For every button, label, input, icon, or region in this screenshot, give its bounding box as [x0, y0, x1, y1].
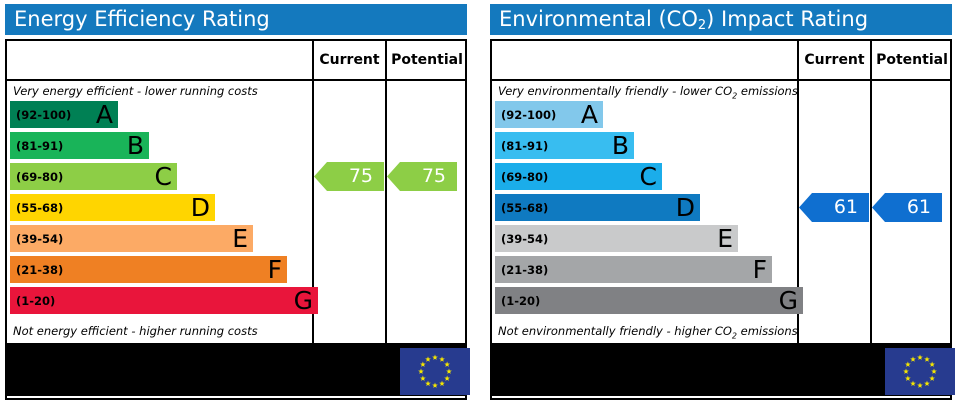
band-letter-label: G [779, 287, 798, 314]
column-divider-potential [385, 41, 387, 343]
column-divider-potential [870, 41, 872, 343]
band-range-label: (92-100) [501, 101, 556, 128]
footer-energy: England, Scotland & Wales EU Directive 2… [7, 345, 465, 398]
band-letter-label: A [96, 101, 113, 128]
band-range-label: (69-80) [16, 163, 63, 190]
band-letter-label: A [581, 101, 598, 128]
band-range-label: (1-20) [501, 287, 540, 314]
footer-directive-label: EU Directive 2002/91/EC [774, 352, 882, 390]
band-letter-label: E [232, 225, 248, 252]
band-range-label: (21-38) [501, 256, 548, 283]
band-range-label: (55-68) [16, 194, 63, 221]
footer-directive-label: EU Directive 2002/91/EC [289, 352, 397, 390]
potential-rating-arrow-co2: 61 [872, 193, 942, 222]
directive-line-1: EU Directive [289, 352, 397, 371]
footer-co2: England, Scotland & Wales EU Directive 2… [492, 345, 950, 398]
header-divider [7, 79, 465, 81]
epc-ratings-page: Energy Efficiency Rating Current Potenti… [0, 0, 957, 404]
band-e: (39-54)E [495, 225, 738, 252]
chart-title-co2: Environmental (CO2) Impact Rating [490, 4, 952, 35]
band-list-co2: (92-100)A(81-91)B(69-80)C(55-68)D(39-54)… [495, 101, 795, 321]
band-range-label: (92-100) [16, 101, 71, 128]
band-list-energy: (92-100)A(81-91)B(69-80)C(55-68)D(39-54)… [10, 101, 310, 321]
caption-top-co2: Very environmentally friendly - lower CO… [498, 82, 798, 101]
band-f: (21-38)F [495, 256, 772, 283]
band-b: (81-91)B [495, 132, 634, 159]
band-range-label: (81-91) [16, 132, 63, 159]
band-letter-label: D [191, 194, 210, 221]
footer-region-label: England, Scotland & Wales [17, 345, 274, 398]
band-letter-label: B [127, 132, 144, 159]
column-header-potential: Potential [387, 41, 467, 79]
band-letter-label: D [676, 194, 695, 221]
band-range-label: (69-80) [501, 163, 548, 190]
band-c: (69-80)C [10, 163, 177, 190]
energy-efficiency-chart: Energy Efficiency Rating Current Potenti… [0, 0, 472, 404]
footer-region-label: England, Scotland & Wales [502, 345, 759, 398]
band-a: (92-100)A [10, 101, 118, 128]
band-b: (81-91)B [10, 132, 149, 159]
band-letter-label: B [612, 132, 629, 159]
caption-top-energy: Very energy efficient - lower running co… [13, 82, 258, 101]
band-range-label: (21-38) [16, 256, 63, 283]
column-header-current: Current [799, 41, 870, 79]
eu-flag-icon [885, 348, 955, 395]
eu-flag-icon [400, 348, 470, 395]
header-divider [492, 79, 950, 81]
band-e: (39-54)E [10, 225, 253, 252]
chart-title-energy: Energy Efficiency Rating [5, 4, 467, 35]
band-d: (55-68)D [10, 194, 215, 221]
band-g: (1-20)G [10, 287, 318, 314]
band-letter-label: E [717, 225, 733, 252]
band-letter-label: F [268, 256, 282, 283]
column-header-current: Current [314, 41, 385, 79]
band-g: (1-20)G [495, 287, 803, 314]
band-letter-label: G [294, 287, 313, 314]
caption-bottom-co2: Not environmentally friendly - higher CO… [498, 322, 798, 341]
band-range-label: (81-91) [501, 132, 548, 159]
band-letter-label: C [155, 163, 172, 190]
caption-bottom-energy: Not energy efficient - higher running co… [13, 322, 258, 341]
band-f: (21-38)F [10, 256, 287, 283]
band-d: (55-68)D [495, 194, 700, 221]
chart-frame-energy: Current Potential Very energy efficient … [5, 39, 467, 400]
band-range-label: (1-20) [16, 287, 55, 314]
band-a: (92-100)A [495, 101, 603, 128]
directive-line-1: EU Directive [774, 352, 882, 371]
chart-frame-co2: Current Potential Very environmentally f… [490, 39, 952, 400]
band-range-label: (55-68) [501, 194, 548, 221]
band-letter-label: C [640, 163, 657, 190]
co2-impact-chart: Environmental (CO2) Impact Rating Curren… [485, 0, 957, 404]
band-c: (69-80)C [495, 163, 662, 190]
current-rating-arrow-co2: 61 [799, 193, 869, 222]
potential-rating-arrow-energy: 75 [387, 162, 457, 191]
current-rating-arrow-energy: 75 [314, 162, 384, 191]
band-range-label: (39-54) [16, 225, 63, 252]
column-header-potential: Potential [872, 41, 952, 79]
directive-line-2: 2002/91/EC [774, 371, 882, 390]
directive-line-2: 2002/91/EC [289, 371, 397, 390]
band-letter-label: F [753, 256, 767, 283]
band-range-label: (39-54) [501, 225, 548, 252]
